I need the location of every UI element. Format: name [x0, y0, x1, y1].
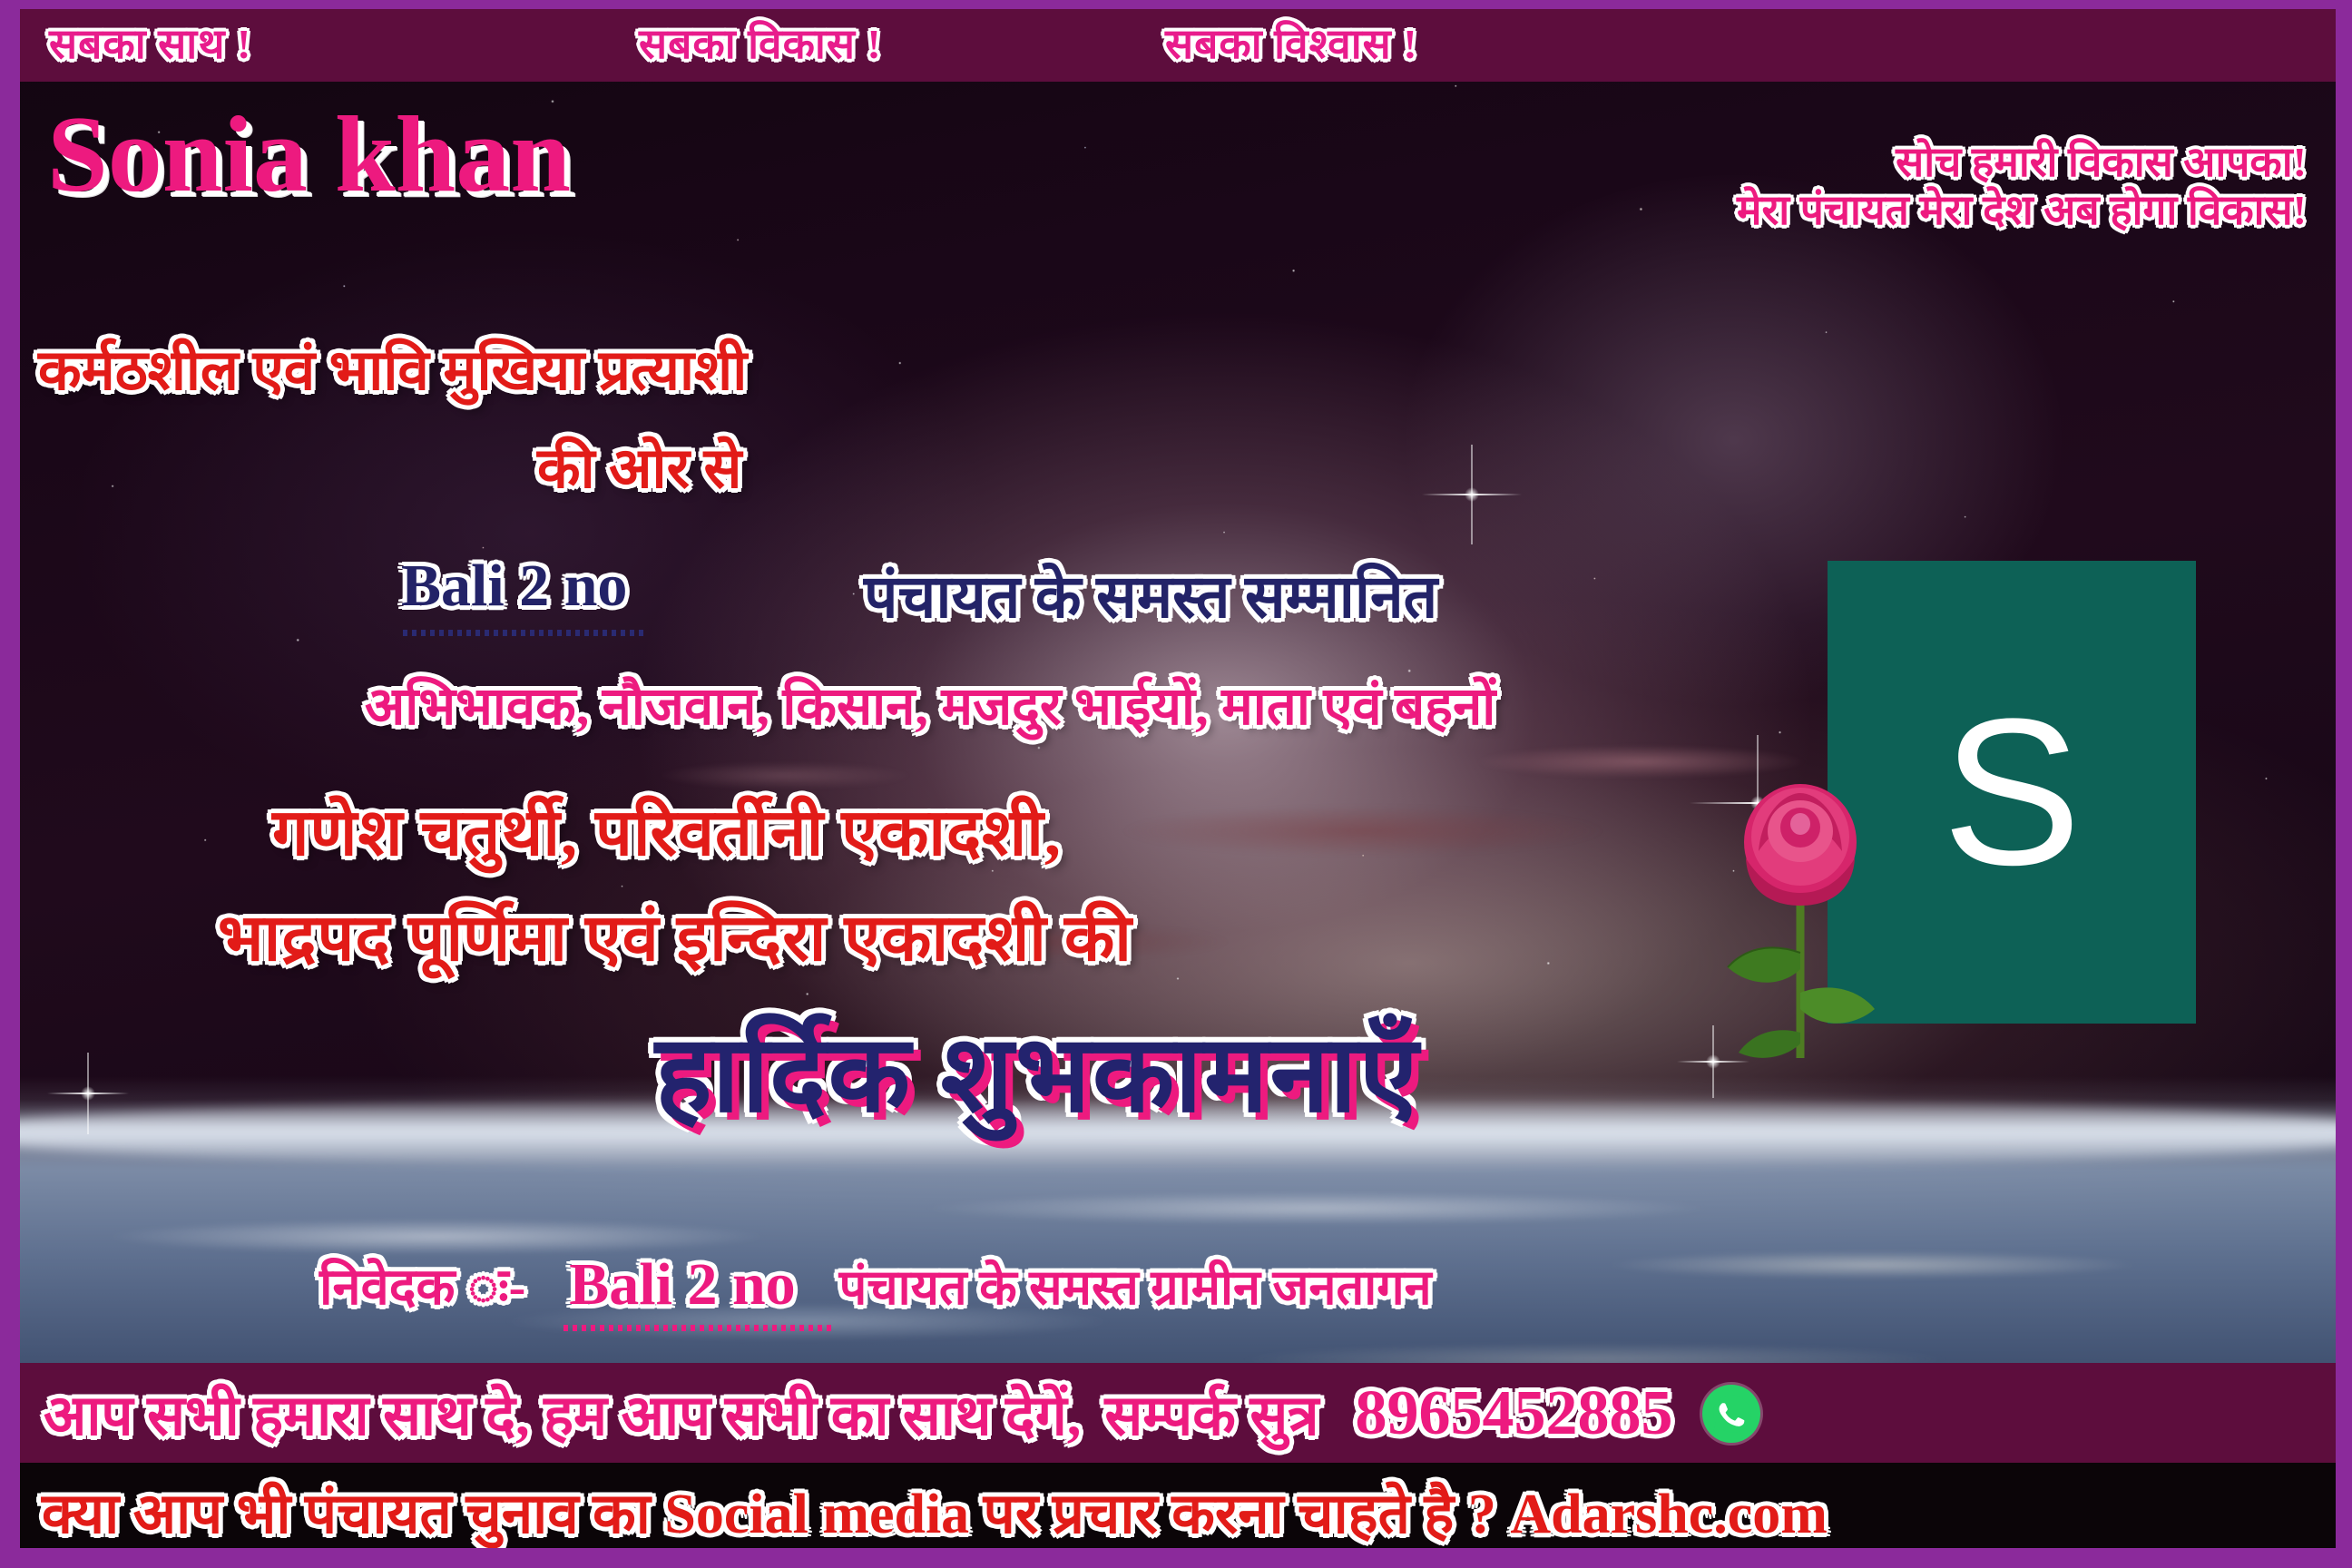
slogan-sabka-vikas: सबका विकास !: [639, 15, 882, 71]
festival-line-2: भाद्रपद पूर्णिमा एवं इन्दिरा एकादशी की: [218, 891, 1132, 980]
phone-number[interactable]: 8965452885: [1356, 1377, 1673, 1450]
dotted-underline: [403, 630, 648, 636]
poster-frame: S सबका साथ ! सबका विकास ! सबका विश्वास !…: [20, 9, 2336, 1548]
sender-from: पंचायत के समस्त ग्रामीन जनतागन: [839, 1251, 1432, 1318]
development-message-line-2: मेरा पंचायत मेरा देश अब होगा विकास!: [1737, 186, 2307, 234]
panchayat-brand-top: Bali 2 no: [401, 552, 627, 621]
appeal-text: आप सभी हमारा साथ दे, हम आप सभी का साथ दे…: [44, 1376, 1081, 1452]
dotted-underline: [563, 1325, 836, 1331]
sender-label: निवेदक ः-: [319, 1250, 525, 1319]
greeting-text: हार्दिक शुभकामनाएँ: [655, 996, 1420, 1142]
candidate-designation-line-2: की ओर से: [537, 428, 741, 505]
panchayat-brand-top-label: Bali 2 no: [401, 553, 627, 619]
addressee-line-1: पंचायत के समस्त सम्मानित: [864, 554, 1437, 635]
addressee-line-2: अभिभावक, नौजवान, किसान, मजदुर भाईयों, मा…: [365, 668, 1495, 740]
contact-row: आप सभी हमारा साथ दे, हम आप सभी का साथ दे…: [44, 1376, 1760, 1452]
candidate-designation-line-1: कर्मठशील एवं भावि मुखिया प्रत्याशी: [38, 330, 747, 407]
candidate-name: Sonia khan: [47, 100, 571, 209]
panchayat-brand-bottom-label: Bali 2 no: [569, 1251, 795, 1318]
rose-flower-icon: [1710, 771, 1891, 1062]
slogan-sabka-vishwas: सबका विश्वास !: [1165, 15, 1418, 71]
festival-line-1: गणेश चतुर्थी, परिवर्तीनी एकादशी,: [272, 786, 1062, 875]
development-message-line-1: सोच हमारी विकास आपका!: [1737, 138, 2307, 186]
whatsapp-icon[interactable]: [1702, 1385, 1760, 1443]
promo-text[interactable]: क्या आप भी पंचायत चुनाव का Social media …: [42, 1474, 1828, 1548]
sender-row: निवेदक ः- Bali 2 no पंचायत के समस्त ग्रा…: [319, 1250, 1432, 1319]
contact-label: सम्पर्क सुत्र: [1104, 1376, 1318, 1452]
election-greeting-poster: S सबका साथ ! सबका विकास ! सबका विश्वास !…: [0, 0, 2352, 1568]
development-message: सोच हमारी विकास आपका! मेरा पंचायत मेरा द…: [1737, 138, 2307, 235]
panchayat-brand-bottom: Bali 2 no: [569, 1250, 795, 1319]
slogan-sabka-saath: सबका साथ !: [49, 15, 251, 71]
